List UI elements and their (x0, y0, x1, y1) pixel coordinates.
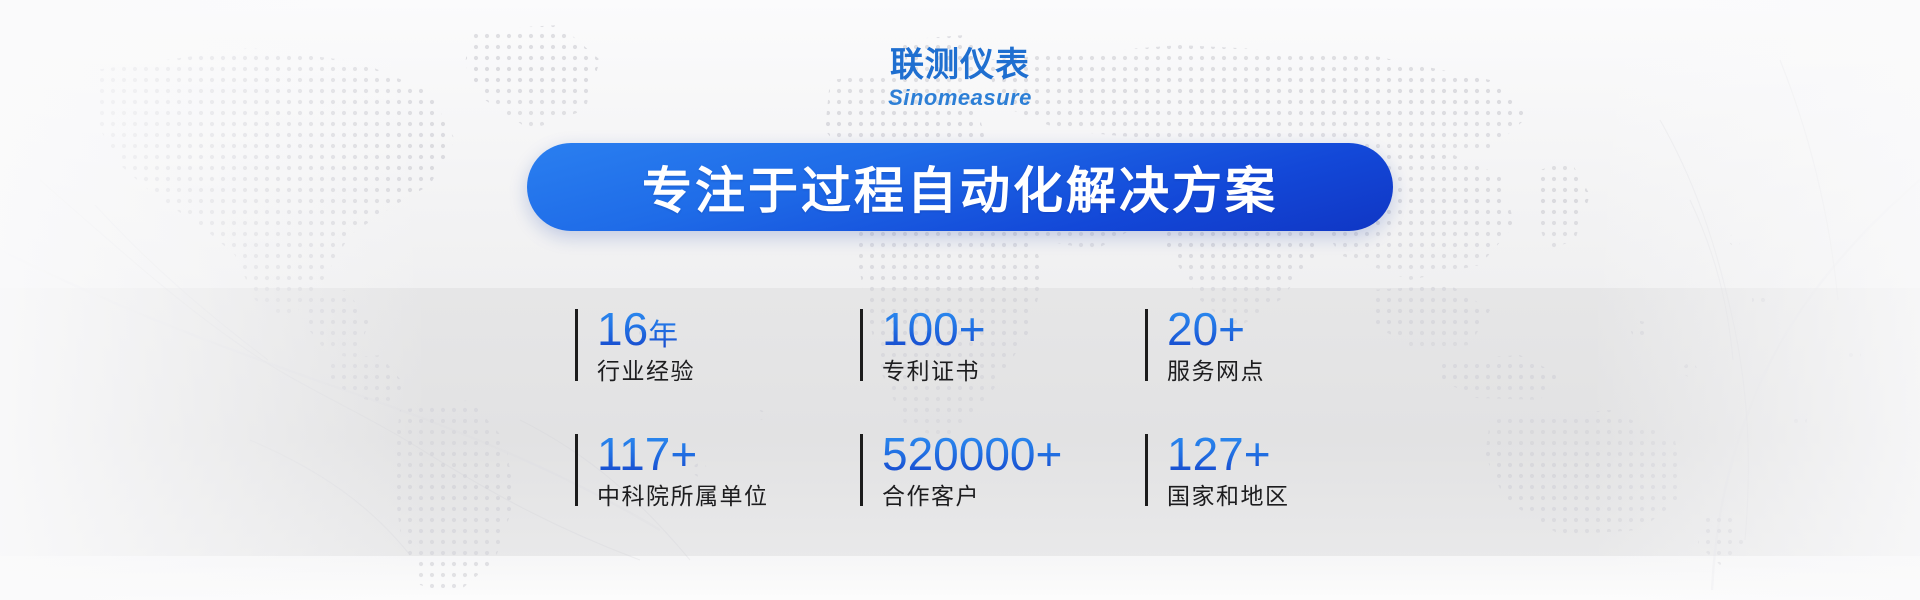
stat-label: 中科院所属单位 (597, 483, 860, 511)
stat-item: 20+ 服务网点 (1145, 305, 1365, 385)
stat-value: 20+ (1167, 305, 1365, 354)
stat-item: 117+ 中科院所属单位 (575, 430, 860, 510)
promo-banner: 联测仪表 Sinomeasure 专注于过程自动化解决方案 16年 行业经验 1… (0, 0, 1920, 600)
stat-divider-bar (860, 434, 863, 506)
stat-label: 国家和地区 (1167, 483, 1365, 511)
stat-label: 服务网点 (1167, 358, 1365, 386)
stat-value: 127+ (1167, 430, 1365, 479)
stat-label: 行业经验 (597, 358, 860, 386)
stat-suffix: + (1218, 303, 1245, 355)
stat-suffix: + (1036, 428, 1063, 480)
stat-divider-bar (1145, 434, 1148, 506)
headline-text: 专注于过程自动化解决方案 (642, 151, 1278, 223)
stat-label: 合作客户 (882, 483, 1145, 511)
stat-number: 127 (1167, 428, 1244, 480)
stat-number: 520000 (882, 428, 1036, 480)
stat-value: 520000+ (882, 430, 1145, 479)
stat-number: 20 (1167, 303, 1218, 355)
stat-label: 专利证书 (882, 358, 1145, 386)
stat-suffix: 年 (648, 319, 678, 352)
stat-suffix: + (1244, 428, 1271, 480)
stat-number: 16 (597, 303, 648, 355)
stat-divider-bar (575, 434, 578, 506)
stats-row: 16年 行业经验 100+ 专利证书 20+ 服务网点 (575, 305, 1365, 385)
stat-value: 117+ (597, 430, 860, 479)
brand-name-cn: 联测仪表 (0, 48, 1920, 82)
stat-item: 16年 行业经验 (575, 305, 860, 385)
stats-row: 117+ 中科院所属单位 520000+ 合作客户 127+ 国家和地区 (575, 430, 1365, 510)
stat-item: 100+ 专利证书 (860, 305, 1145, 385)
stat-suffix: + (959, 303, 986, 355)
stat-number: 117 (597, 428, 670, 480)
stat-divider-bar (1145, 309, 1148, 381)
stat-divider-bar (860, 309, 863, 381)
stat-item: 127+ 国家和地区 (1145, 430, 1365, 510)
stat-number: 100 (882, 303, 959, 355)
brand-logo: 联测仪表 Sinomeasure (0, 48, 1920, 109)
headline-pill: 专注于过程自动化解决方案 (527, 143, 1393, 231)
brand-name-en: Sinomeasure (0, 87, 1920, 109)
stats-grid: 16年 行业经验 100+ 专利证书 20+ 服务网点 (575, 305, 1365, 511)
stat-item: 520000+ 合作客户 (860, 430, 1145, 510)
stat-value: 100+ (882, 305, 1145, 354)
stat-suffix: + (670, 428, 697, 480)
stat-value: 16年 (597, 305, 860, 354)
stat-divider-bar (575, 309, 578, 381)
